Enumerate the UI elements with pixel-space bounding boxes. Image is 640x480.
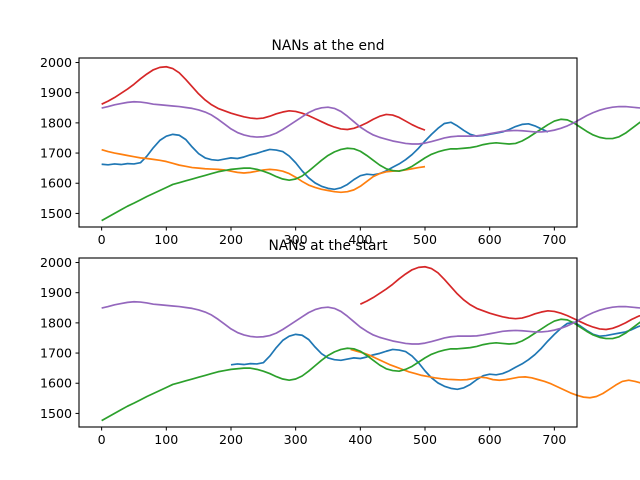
series-line-purple (102, 278, 640, 344)
axes-nans-at-the-start: 0100200300400500600700150016001700180019… (40, 238, 640, 447)
ytick-label: 2000 (40, 55, 72, 70)
xtick-label: 500 (413, 432, 437, 447)
xtick-label: 0 (98, 232, 106, 247)
ytick-label: 1500 (40, 406, 72, 421)
xtick-label: 300 (284, 432, 308, 447)
xtick-label: 600 (478, 432, 502, 447)
ytick-label: 1800 (40, 115, 72, 130)
ytick-label: 1800 (40, 315, 72, 330)
xtick-label: 400 (348, 432, 372, 447)
xtick-label: 100 (154, 432, 178, 447)
xtick-label: 0 (98, 432, 106, 447)
axes-nans-at-the-end: 0100200300400500600700150016001700180019… (40, 38, 640, 247)
xtick-label: 200 (219, 232, 243, 247)
ytick-label: 1600 (40, 376, 72, 391)
ytick-label: 1900 (40, 285, 72, 300)
xtick-label: 100 (154, 232, 178, 247)
ytick-label: 1900 (40, 85, 72, 100)
axes-frame (79, 258, 577, 427)
xtick-label: 200 (219, 432, 243, 447)
ytick-label: 1500 (40, 206, 72, 221)
series-line-orange (351, 349, 640, 397)
ytick-label: 1600 (40, 176, 72, 191)
xtick-label: 600 (478, 232, 502, 247)
axes-frame (79, 58, 577, 227)
axes-title-nans-at-the-start: NANs at the start (268, 238, 388, 254)
series-line-red (360, 267, 640, 330)
xtick-label: 700 (542, 232, 566, 247)
series-line-purple (102, 78, 640, 144)
ytick-label: 1700 (40, 346, 72, 361)
xtick-label: 500 (413, 232, 437, 247)
series-line-blue (102, 122, 548, 189)
axes-title-nans-at-the-end: NANs at the end (272, 38, 385, 54)
xtick-label: 700 (542, 432, 566, 447)
series-line-red (102, 67, 425, 130)
figure-canvas: 0100200300400500600700150016001700180019… (0, 0, 640, 480)
ytick-label: 1700 (40, 146, 72, 161)
ytick-label: 2000 (40, 255, 72, 270)
matplotlib-figure: 0100200300400500600700150016001700180019… (0, 0, 640, 480)
